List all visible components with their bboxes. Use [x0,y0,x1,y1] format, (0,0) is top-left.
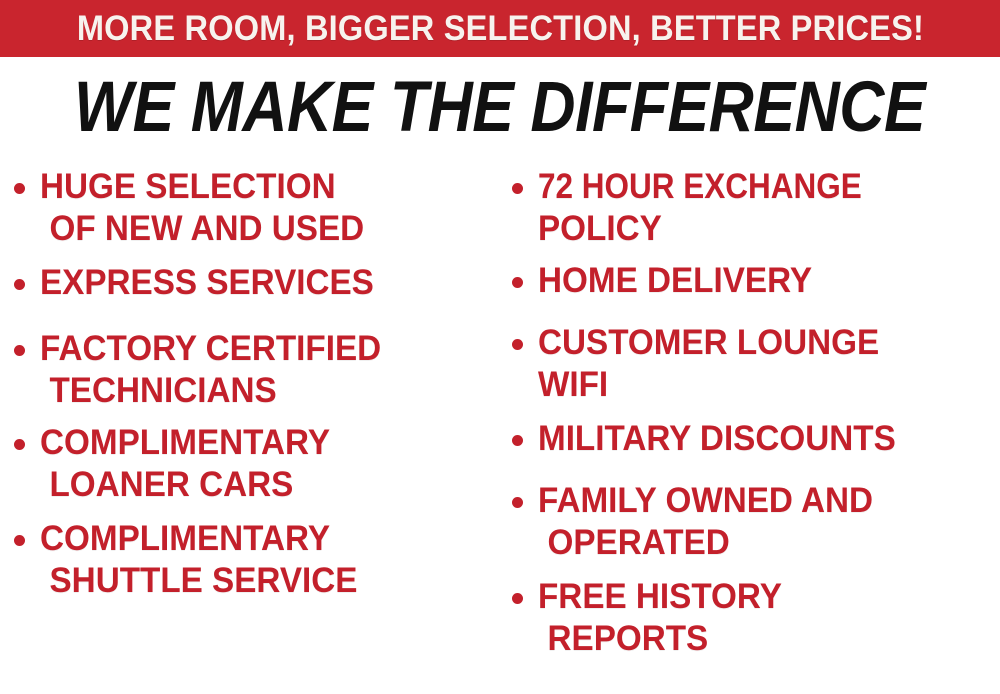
list-item-line: LOANER CARS [40,464,477,506]
list-item: FAMILY OWNED AND OPERATED [512,480,1000,564]
list-item: COMPLIMENTARY SHUTTLE SERVICE [14,518,500,602]
bullet-dot-icon [14,535,25,546]
list-item-line: TECHNICIANS [40,370,477,412]
list-item-text: FAMILY OWNED AND OPERATED [538,480,1000,564]
list-item-line: MILITARY DISCOUNTS [538,418,977,460]
list-item-text: CUSTOMER LOUNGE WIFI [538,322,1000,406]
list-item-line: EXPRESS SERVICES [40,262,477,304]
bullet-dot-icon [512,183,523,194]
bullet-dot-icon [512,497,523,508]
bullet-dot-icon [14,183,25,194]
list-item-text: EXPRESS SERVICES [40,262,500,304]
list-item-text: HOME DELIVERY [538,260,1000,302]
bullet-dot-icon [512,277,523,288]
list-item: HUGE SELECTION OF NEW AND USED [14,166,500,250]
list-item: EXPRESS SERVICES [14,262,500,304]
list-item-line: FAMILY OWNED AND [538,480,977,522]
list-item: COMPLIMENTARY LOANER CARS [14,422,500,506]
list-item-text: MILITARY DISCOUNTS [538,418,1000,460]
list-item-line: FACTORY CERTIFIED [40,328,477,370]
list-item-text: FACTORY CERTIFIED TECHNICIANS [40,328,500,412]
list-item-line: POLICY [538,208,977,250]
list-item-line: SHUTTLE SERVICE [40,560,477,602]
list-item-line: HUGE SELECTION [40,166,477,208]
list-item-line: FREE HISTORY [538,576,977,618]
list-item-line: WIFI [538,364,977,406]
benefits-column-left: HUGE SELECTION OF NEW AND USED EXPRESS S… [14,160,500,694]
headline-container: WE MAKE THE DIFFERENCE [0,72,1000,142]
list-item-line: REPORTS [538,618,977,660]
list-item-text: FREE HISTORY REPORTS [538,576,1000,660]
list-item: MILITARY DISCOUNTS [512,418,1000,460]
bullet-dot-icon [512,339,523,350]
list-item: CUSTOMER LOUNGE WIFI [512,322,1000,406]
bullet-dot-icon [14,279,25,290]
bullet-dot-icon [512,435,523,446]
promotional-poster: MORE ROOM, BIGGER SELECTION, BETTER PRIC… [0,0,1000,694]
list-item-line: OF NEW AND USED [40,208,477,250]
list-item-line: HOME DELIVERY [538,260,977,302]
list-item: FACTORY CERTIFIED TECHNICIANS [14,328,500,412]
list-item: FREE HISTORY REPORTS [512,576,1000,660]
list-item-text: COMPLIMENTARY SHUTTLE SERVICE [40,518,500,602]
list-item: HOME DELIVERY [512,260,1000,302]
benefits-column-right: 72 HOUR EXCHANGE POLICY HOME DELIVERY CU… [512,160,1000,694]
bullet-dot-icon [14,439,25,450]
bullet-dot-icon [512,593,523,604]
list-item-line: OPERATED [538,522,977,564]
list-item-line: COMPLIMENTARY [40,422,477,464]
list-item-text: HUGE SELECTION OF NEW AND USED [40,166,500,250]
list-item: 72 HOUR EXCHANGE POLICY [512,166,1000,250]
benefits-columns: HUGE SELECTION OF NEW AND USED EXPRESS S… [0,160,1000,694]
bullet-dot-icon [14,345,25,356]
list-item-line: CUSTOMER LOUNGE [538,322,977,364]
list-item-line: COMPLIMENTARY [40,518,477,560]
list-item-text: 72 HOUR EXCHANGE POLICY [538,166,1000,250]
page-title: WE MAKE THE DIFFERENCE [74,72,925,143]
top-banner: MORE ROOM, BIGGER SELECTION, BETTER PRIC… [0,0,1000,57]
list-item-line: 72 HOUR EXCHANGE [538,166,954,208]
banner-headline: MORE ROOM, BIGGER SELECTION, BETTER PRIC… [76,11,923,46]
list-item-text: COMPLIMENTARY LOANER CARS [40,422,500,506]
